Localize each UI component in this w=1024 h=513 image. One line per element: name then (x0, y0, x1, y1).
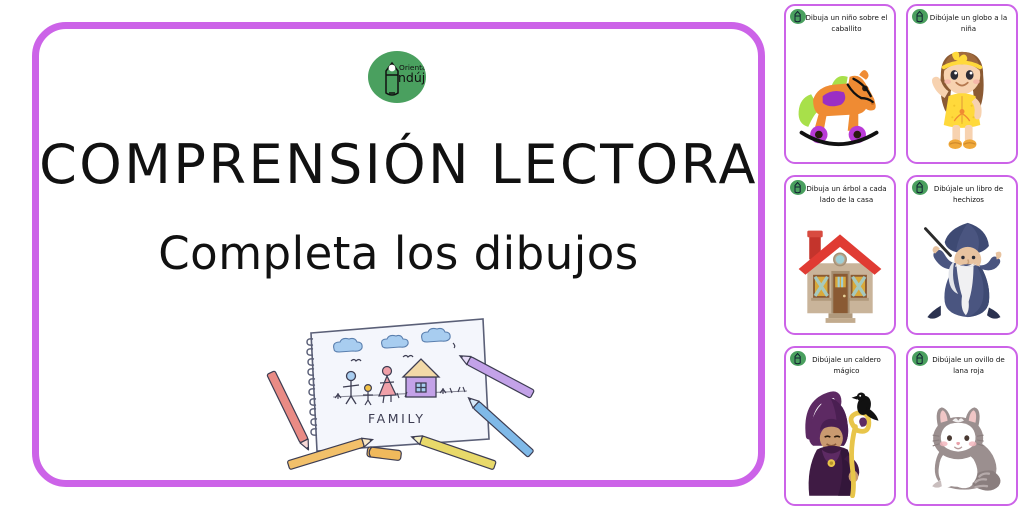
activity-card-girl-balloon[interactable]: Dibújale un globo a la niña (906, 4, 1018, 164)
activity-card-grid: Dibuja un niño sobre el caballito (784, 4, 1020, 509)
pencil-icon: Orientación ndújar (368, 51, 426, 103)
cat-illustration (912, 384, 1012, 498)
rocking-horse-illustration (790, 42, 890, 156)
card-title: Dibuja un árbol a cada lado de la casa (804, 183, 889, 205)
rocking-horse-icon (790, 42, 890, 156)
wizard-icon (912, 213, 1012, 327)
girl-icon (912, 42, 1012, 156)
activity-card-rocking-horse[interactable]: Dibuja un niño sobre el caballito (784, 4, 896, 164)
page-title: COMPRENSIÓN LECTORA (39, 133, 758, 196)
activity-card-wizard-book[interactable]: Dibújale un libro de hechizos (906, 175, 1018, 335)
wizard-illustration (912, 213, 1012, 327)
sorceress-icon (790, 384, 890, 498)
page-subtitle: Completa los dibujos (39, 227, 758, 280)
drawing-caption: FAMILY (368, 411, 426, 426)
card-title: Dibújale un caldero mágico (804, 354, 889, 376)
sketchbook-illustration: FAMILY (239, 297, 559, 477)
card-title: Dibújale un libro de hechizos (926, 183, 1011, 205)
cover-panel: Orientación ndújar COMPRENSIÓN LECTORA C… (32, 22, 765, 487)
activity-card-house-trees[interactable]: Dibuja un árbol a cada lado de la casa (784, 175, 896, 335)
house-illustration (790, 213, 890, 327)
svg-text:ndújar: ndújar (398, 70, 426, 85)
activity-card-cat-yarn[interactable]: Dibújale un ovillo de lana roja (906, 346, 1018, 506)
cat-icon (912, 384, 1012, 498)
card-title: Dibújale un ovillo de lana roja (926, 354, 1011, 376)
girl-illustration (912, 42, 1012, 156)
sketchbook-with-pencils-icon: FAMILY (239, 297, 559, 477)
card-title: Dibújale un globo a la niña (926, 12, 1011, 34)
worksheet-cover-page: Orientación ndújar COMPRENSIÓN LECTORA C… (0, 0, 1024, 513)
activity-card-sorceress-cauldron[interactable]: Dibújale un caldero mágico (784, 346, 896, 506)
sorceress-illustration (790, 384, 890, 498)
house-icon (790, 213, 890, 327)
brand-logo-circle: Orientación ndújar (368, 51, 426, 103)
brand-logo: Orientación ndújar (368, 51, 430, 103)
card-title: Dibuja un niño sobre el caballito (804, 12, 889, 34)
